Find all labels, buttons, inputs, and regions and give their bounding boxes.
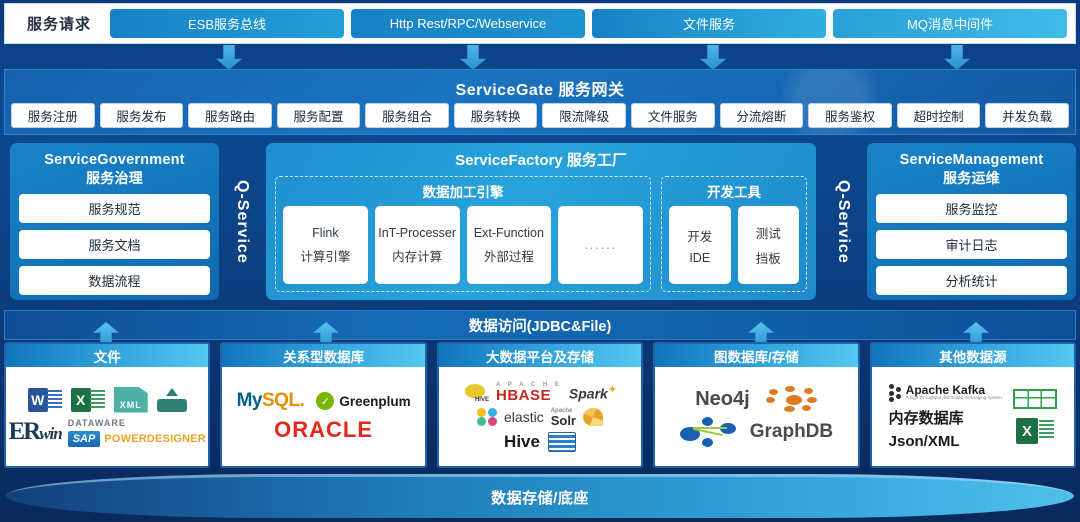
engine-card-int-processer-desc: 内存计算 (392, 246, 442, 265)
data-source-files[interactable]: 文件 W X XML ERwin DATAWARE SAP POWERDESI (4, 342, 210, 468)
dev-tools-card-test-name: 测试 (756, 223, 781, 242)
data-source-others-title: 其他数据源 (872, 344, 1074, 367)
service-management-title-en: ServiceManagement (900, 152, 1044, 168)
data-source-others-logos: Apache Kafka A high-throughput distribut… (872, 367, 1074, 466)
data-source-panels: 文件 W X XML ERwin DATAWARE SAP POWERDESI (4, 342, 1076, 468)
engine-card-more[interactable]: ...... (558, 206, 643, 284)
gate-item-auth[interactable]: 服务鉴权 (808, 103, 892, 128)
data-source-relational-db[interactable]: 关系型数据库 MySQL. ✓ Greenplum ORACLE (220, 342, 426, 468)
data-source-bigdata-logos: HIVE A P A C H EHBASE Spark✦ elastic Apa… (439, 367, 641, 466)
engine-card-int-processer[interactable]: InT-Processer 内存计算 (375, 206, 460, 284)
hive-logo: Hive (504, 432, 540, 452)
mgmt-item-monitor[interactable]: 服务监控 (876, 194, 1067, 223)
gov-item-dataflow[interactable]: 数据流程 (19, 266, 210, 295)
hive-bee-icon: HIVE (463, 382, 489, 402)
q-service-text-right: Q-Service (834, 180, 852, 264)
gov-item-spec[interactable]: 服务规范 (19, 194, 210, 223)
q-service-label-right: Q-Service (824, 143, 862, 300)
gate-item-transform[interactable]: 服务转换 (454, 103, 538, 128)
gate-item-circuit[interactable]: 分流熔断 (720, 103, 804, 128)
service-government-panel: ServiceGovernment 服务治理 服务规范 服务文档 数据流程 (10, 143, 219, 300)
data-source-graphdb-title: 图数据库/存储 (655, 344, 857, 367)
dev-tools-card-ide-name: 开发 (687, 226, 712, 245)
flow-arrows-down (0, 45, 1080, 70)
service-request-button-http[interactable]: Http Rest/RPC/Webservice (351, 9, 585, 38)
word-icon: W (28, 388, 62, 412)
gate-item-route[interactable]: 服务路由 (188, 103, 272, 128)
q-service-text-left: Q-Service (233, 180, 251, 264)
storage-platform-base: 数据存储/底座 (6, 474, 1074, 518)
neo4j-logo: Neo4j (695, 388, 749, 411)
oracle-logo: ORACLE (274, 417, 373, 443)
engine-card-ext-function-desc: 外部过程 (484, 246, 534, 265)
erwin-logo: ERwin (8, 418, 61, 446)
data-source-files-title: 文件 (6, 344, 208, 367)
kafka-icon (889, 384, 902, 402)
engine-card-ext-function[interactable]: Ext-Function 外部过程 (467, 206, 552, 284)
dev-tools-card-test[interactable]: 测试 挡板 (738, 206, 800, 284)
service-government-title: ServiceGovernment 服务治理 (19, 151, 210, 187)
json-xml-label: Json/XML (889, 433, 960, 450)
dataware-logo: DATAWARE (68, 418, 126, 428)
middle-band: ServiceGovernment 服务治理 服务规范 服务文档 数据流程 Q-… (0, 138, 1080, 310)
hbase-logo: A P A C H EHBASE (496, 382, 562, 403)
engine-card-flink[interactable]: Flink 计算引擎 (283, 206, 368, 284)
storage-platform-label: 数据存储/底座 (491, 487, 589, 508)
solr-sun-icon (583, 408, 603, 426)
service-request-bar: 服务请求 ESB服务总线 Http Rest/RPC/Webservice 文件… (4, 3, 1076, 44)
service-management-panel: ServiceManagement 服务运维 服务监控 审计日志 分析统计 (867, 143, 1076, 300)
q-service-label-left: Q-Service (223, 143, 261, 300)
graphdb-logo: GraphDB (750, 421, 833, 443)
service-factory-panel: ServiceFactory 服务工厂 数据加工引擎 Flink 计算引擎 In… (266, 143, 816, 300)
data-processing-engine-box: 数据加工引擎 Flink 计算引擎 InT-Processer 内存计算 Ext… (275, 176, 651, 292)
data-processing-engine-title: 数据加工引擎 (283, 181, 643, 201)
dev-tools-card-ide[interactable]: 开发 IDE (669, 206, 731, 284)
greenplum-logo: Greenplum (339, 394, 410, 409)
mgmt-item-analytics[interactable]: 分析统计 (876, 266, 1067, 295)
dev-tools-card-test-desc: 挡板 (756, 248, 781, 267)
data-source-graphdb-logos: Neo4j (655, 367, 857, 466)
gate-item-register[interactable]: 服务注册 (11, 103, 95, 128)
greenplum-icon: ✓ (316, 392, 334, 410)
grid-icon (1013, 389, 1057, 409)
data-source-relational-db-logos: MySQL. ✓ Greenplum ORACLE (222, 367, 424, 466)
service-request-label: 服务请求 (13, 13, 103, 34)
mgmt-item-auditlog[interactable]: 审计日志 (876, 230, 1067, 259)
solr-logo: ApacheSolr (551, 408, 576, 427)
memory-db-label: 内存数据库 (889, 407, 964, 428)
arrow-down-icon (216, 45, 242, 70)
service-request-button-esb[interactable]: ESB服务总线 (110, 9, 344, 38)
kafka-logo: Apache Kafka A high-throughput distribut… (906, 384, 1003, 401)
powerdesigner-logo: POWERDESIGNER (104, 433, 206, 445)
gate-item-throttle[interactable]: 限流降级 (542, 103, 626, 128)
gov-item-docs[interactable]: 服务文档 (19, 230, 210, 259)
dev-tools-title: 开发工具 (669, 181, 799, 201)
data-source-files-logos: W X XML ERwin DATAWARE SAP POWERDESIGNER (6, 367, 208, 466)
spark-logo: Spark✦ (569, 383, 617, 402)
arrow-down-icon (944, 45, 970, 70)
gate-item-compose[interactable]: 服务组合 (365, 103, 449, 128)
elastic-icon (477, 408, 497, 426)
arrow-down-icon (460, 45, 486, 70)
data-source-graphdb[interactable]: 图数据库/存储 Neo4j (653, 342, 859, 468)
arrow-down-icon (700, 45, 726, 70)
engine-card-flink-name: Flink (312, 226, 338, 240)
engine-card-int-processer-name: InT-Processer (378, 226, 456, 240)
service-gate-panel: ServiceGate 服务网关 服务注册 服务发布 服务路由 服务配置 服务组… (4, 69, 1076, 135)
gate-item-fileservice[interactable]: 文件服务 (631, 103, 715, 128)
service-government-title-cn: 服务治理 (19, 170, 210, 188)
service-request-button-mq[interactable]: MQ消息中间件 (833, 9, 1067, 38)
gate-item-config[interactable]: 服务配置 (277, 103, 361, 128)
service-factory-title: ServiceFactory 服务工厂 (275, 149, 807, 170)
mysql-logo: MySQL. (237, 390, 305, 412)
dev-tools-box: 开发工具 开发 IDE 测试 挡板 (661, 176, 807, 292)
database-icon (157, 388, 187, 412)
service-government-title-en: ServiceGovernment (44, 152, 184, 168)
document-icon (548, 432, 576, 452)
data-source-bigdata[interactable]: 大数据平台及存储 HIVE A P A C H EHBASE Spark✦ el… (437, 342, 643, 468)
elastic-logo: elastic (504, 409, 544, 425)
data-source-relational-db-title: 关系型数据库 (222, 344, 424, 367)
sap-logo: SAP (68, 431, 101, 447)
excel-icon: X (71, 388, 105, 412)
gate-item-concurrency[interactable]: 并发负载 (985, 103, 1069, 128)
service-request-button-file[interactable]: 文件服务 (592, 9, 826, 38)
engine-card-flink-desc: 计算引擎 (300, 246, 350, 265)
gate-item-timeout[interactable]: 超时控制 (897, 103, 981, 128)
engine-card-more-label: ...... (584, 238, 617, 252)
graphdb-node-icon (766, 386, 818, 412)
data-source-others[interactable]: 其他数据源 Apache Kafka A high-throughput dis… (870, 342, 1076, 468)
engine-card-ext-function-name: Ext-Function (474, 226, 544, 240)
gate-item-publish[interactable]: 服务发布 (100, 103, 184, 128)
service-management-title-cn: 服务运维 (876, 170, 1067, 188)
data-source-bigdata-title: 大数据平台及存储 (439, 344, 641, 367)
service-gate-title: ServiceGate 服务网关 (5, 76, 1075, 100)
service-management-title: ServiceManagement 服务运维 (876, 151, 1067, 187)
service-gate-item-list: 服务注册 服务发布 服务路由 服务配置 服务组合 服务转换 限流降级 文件服务 … (11, 103, 1069, 128)
excel-icon: X (1016, 418, 1054, 444)
neo4j-node-icon (680, 417, 738, 447)
dev-tools-card-ide-desc: IDE (689, 251, 710, 265)
xml-icon: XML (114, 387, 148, 413)
